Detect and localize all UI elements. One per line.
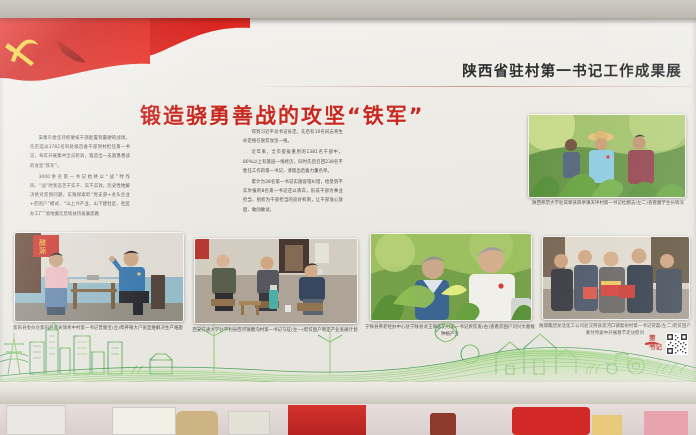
hammer-and-sickle-emblem [4, 32, 48, 72]
page-title: 陕西省驻村第一书记工作成果展 [462, 60, 682, 81]
shelf-item-clear-pack [228, 411, 270, 435]
logo-line-1: 第 [649, 334, 656, 342]
board-edge-shadow [0, 18, 696, 24]
shelf-edge [0, 382, 696, 404]
shelf-item-noodle-pack [112, 407, 176, 435]
product-shelf [0, 404, 696, 435]
photo-caption: 陕西师范大学驻岚皋县四季镇天坪村第一书记杜鹏志(左二)查看魔芋生长情况 [524, 200, 692, 207]
logo-line-2: 书记 [649, 343, 662, 351]
exhibition-board: 陕西省驻村第一书记工作成果展 锻造骁勇善战的攻坚“铁军” 安康市委坚持把硬核干部… [0, 18, 696, 384]
paragraph: 近年来，全市提拔重用的1381名干部中，80%以上有基层一线经历，同时先后召回2… [243, 148, 343, 176]
header-divider [246, 86, 690, 87]
green-landscape-graphic [0, 312, 696, 384]
photo-kudzu-planting [370, 233, 532, 321]
paragraph: 得到习近平总书记肯定。先后有10名同志将生命定格在脱贫攻坚一线。 [243, 128, 343, 146]
first-secretary-logo: 第 书记 [644, 332, 688, 358]
room-scene: 陕西省驻村第一书记工作成果展 锻造骁勇善战的攻坚“铁军” 安康市委坚持把硬核干部… [0, 0, 696, 435]
photo-tea-field-inspection [528, 114, 686, 198]
shelf-item-red-gift-box [288, 405, 366, 435]
photo-indoor-interview: 酵 源 [14, 232, 184, 322]
shelf-item-white-box [6, 405, 66, 435]
shelf-item-straw-bundle [176, 411, 218, 435]
shelf-item-yellow-package [592, 415, 622, 435]
photo-spring-festival-visit [542, 236, 690, 320]
shelf-item-brown-jar [430, 413, 456, 435]
body-column-1: 安康市委坚持把硬核干部配置到最硬的战场，先后选派3782名科处级后备干部到村担任… [30, 134, 130, 221]
logo-text: 第 书记 [649, 334, 662, 352]
qr-code[interactable] [666, 333, 688, 355]
body-column-2: 得到习近平总书记肯定。先后有10名同志将生命定格在脱贫攻坚一线。 近年来，全市提… [243, 128, 343, 217]
paragraph: 3000余名第一书记始终以“战”时作风、“战”时状态苦干实干、实干实效。历史性地… [30, 173, 130, 219]
paragraph: 安康市委坚持把硬核干部配置到最硬的战场，先后选派3782名科处级后备干部到村担任… [30, 134, 130, 171]
main-headline: 锻造骁勇善战的攻坚“铁军” [140, 100, 425, 130]
shelf-item-red-bow-package [512, 407, 590, 435]
shelf-item-pink-package [644, 411, 688, 435]
paragraph: 累计为38名第一书记实施容错纠错，给受到不实举报的8名第一书记还以清白，形成干部… [243, 178, 343, 215]
